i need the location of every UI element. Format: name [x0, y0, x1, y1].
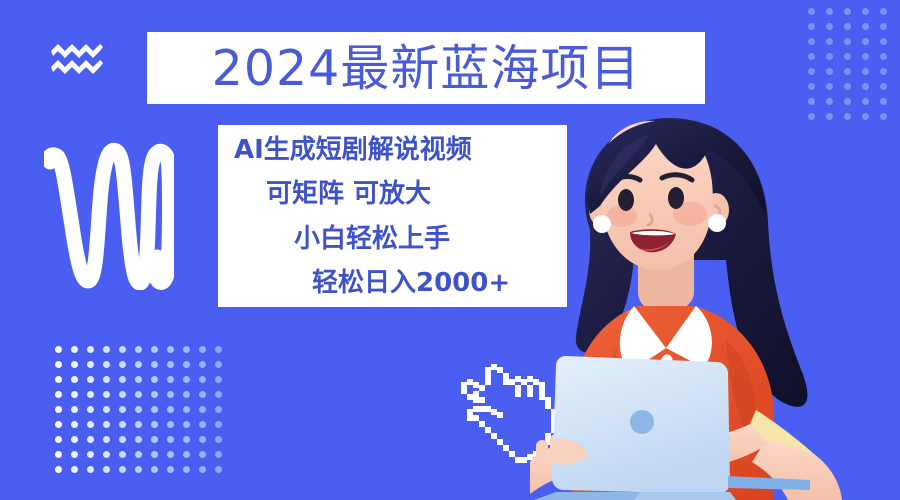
dot	[71, 361, 78, 368]
dot	[87, 376, 94, 383]
body-line-3: 小白轻松上手	[232, 226, 553, 253]
dot	[862, 53, 869, 60]
dot	[135, 421, 142, 428]
dot	[151, 451, 158, 458]
dot	[183, 436, 190, 443]
dot	[215, 376, 222, 383]
dot	[87, 391, 94, 398]
dot	[55, 406, 62, 413]
dot	[119, 421, 126, 428]
dot	[215, 361, 222, 368]
dot	[71, 391, 78, 398]
dot	[183, 376, 190, 383]
dot	[215, 421, 222, 428]
dot	[87, 346, 94, 353]
dot	[151, 361, 158, 368]
dot	[199, 421, 206, 428]
dot	[199, 466, 206, 473]
dot	[151, 421, 158, 428]
dot	[808, 68, 815, 75]
title-card: 2024最新蓝海项目	[147, 32, 705, 104]
dot	[167, 436, 174, 443]
dot	[55, 421, 62, 428]
dot	[844, 68, 851, 75]
dot	[844, 98, 851, 105]
dot	[167, 346, 174, 353]
dot	[167, 361, 174, 368]
dot	[135, 376, 142, 383]
dot	[119, 451, 126, 458]
dot	[844, 38, 851, 45]
dot	[87, 466, 94, 473]
dot	[119, 346, 126, 353]
dot	[87, 406, 94, 413]
dot	[183, 466, 190, 473]
dot	[55, 466, 62, 473]
dot	[826, 38, 833, 45]
dot	[862, 98, 869, 105]
dot	[151, 406, 158, 413]
dot	[862, 23, 869, 30]
dot	[826, 83, 833, 90]
dot	[215, 451, 222, 458]
dot	[55, 436, 62, 443]
dot	[167, 406, 174, 413]
dot	[826, 8, 833, 15]
dot	[103, 436, 110, 443]
dot	[87, 421, 94, 428]
dot	[183, 406, 190, 413]
dot	[119, 466, 126, 473]
dot	[826, 23, 833, 30]
dot	[71, 466, 78, 473]
dot	[103, 391, 110, 398]
wave-zigzag-icon	[50, 42, 104, 76]
dot	[119, 391, 126, 398]
dot	[55, 376, 62, 383]
promo-poster: 2024最新蓝海项目 AI生成短剧解说视频 可矩阵 可放大 小白轻松上手 轻松日…	[0, 0, 900, 500]
dot	[135, 436, 142, 443]
dot	[71, 406, 78, 413]
dot	[808, 23, 815, 30]
dot	[199, 376, 206, 383]
body-line-4: 轻松日入2000+	[232, 270, 553, 297]
dot	[167, 376, 174, 383]
dot	[119, 406, 126, 413]
dot	[103, 406, 110, 413]
dot	[215, 466, 222, 473]
dot	[844, 83, 851, 90]
dot-grid-bottom-left	[55, 346, 231, 481]
dot	[880, 83, 887, 90]
dot	[135, 391, 142, 398]
dot	[71, 346, 78, 353]
dot	[215, 406, 222, 413]
dot	[183, 421, 190, 428]
dot	[71, 436, 78, 443]
dot	[183, 361, 190, 368]
dot	[880, 98, 887, 105]
dot	[167, 451, 174, 458]
dot	[862, 83, 869, 90]
dot	[862, 38, 869, 45]
dot	[880, 38, 887, 45]
dot	[199, 346, 206, 353]
body-line-2: 可矩阵 可放大	[232, 181, 553, 208]
dot	[826, 53, 833, 60]
dot	[135, 451, 142, 458]
dot	[167, 466, 174, 473]
dot	[119, 361, 126, 368]
dot	[103, 421, 110, 428]
dot	[826, 98, 833, 105]
body-line-1: AI生成短剧解说视频	[232, 137, 553, 164]
dot	[103, 346, 110, 353]
dot	[151, 391, 158, 398]
squiggle-scribble-icon	[44, 135, 174, 290]
dot	[862, 8, 869, 15]
dot	[103, 376, 110, 383]
dot	[215, 346, 222, 353]
dot	[199, 406, 206, 413]
dot	[199, 391, 206, 398]
page-title: 2024最新蓝海项目	[212, 44, 641, 93]
dot	[862, 68, 869, 75]
dot	[87, 361, 94, 368]
dot	[808, 53, 815, 60]
dot	[199, 361, 206, 368]
body-text-card: AI生成短剧解说视频 可矩阵 可放大 小白轻松上手 轻松日入2000+	[218, 125, 567, 307]
dot	[87, 451, 94, 458]
dot	[71, 421, 78, 428]
dot	[880, 8, 887, 15]
dot	[71, 376, 78, 383]
dot	[844, 8, 851, 15]
dot	[151, 436, 158, 443]
dot	[808, 38, 815, 45]
dot	[183, 346, 190, 353]
dot	[808, 98, 815, 105]
dot	[135, 361, 142, 368]
dot	[135, 346, 142, 353]
dot	[167, 391, 174, 398]
woman-with-laptop-illustration	[530, 110, 900, 500]
dot	[135, 406, 142, 413]
dot	[199, 436, 206, 443]
dot	[880, 53, 887, 60]
dot	[808, 83, 815, 90]
dot	[880, 68, 887, 75]
dot	[844, 23, 851, 30]
dot	[808, 8, 815, 15]
dot	[119, 376, 126, 383]
dot	[826, 68, 833, 75]
dot	[183, 391, 190, 398]
dot	[119, 436, 126, 443]
dot	[151, 346, 158, 353]
dot	[55, 361, 62, 368]
dot	[844, 53, 851, 60]
dot	[880, 23, 887, 30]
dot	[135, 466, 142, 473]
dot	[71, 451, 78, 458]
dot	[103, 451, 110, 458]
dot	[183, 451, 190, 458]
dot	[215, 391, 222, 398]
dot	[55, 451, 62, 458]
dot	[87, 436, 94, 443]
dot	[103, 466, 110, 473]
dot	[103, 361, 110, 368]
dot	[151, 376, 158, 383]
dot	[215, 436, 222, 443]
dot	[55, 346, 62, 353]
dot	[167, 421, 174, 428]
dot	[55, 391, 62, 398]
dot	[151, 466, 158, 473]
dot	[199, 451, 206, 458]
